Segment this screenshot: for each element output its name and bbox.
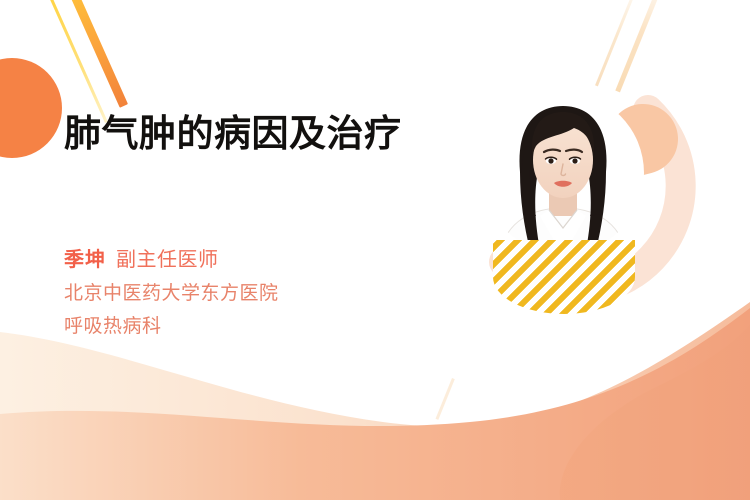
title-block: 肺气肿的病因及治疗 bbox=[64, 112, 414, 156]
doctor-name-row: 季坤副主任医师 bbox=[64, 246, 404, 275]
cream-stripe-b-icon bbox=[615, 0, 668, 92]
doctor-hospital: 北京中医药大学东方医院 bbox=[64, 281, 404, 308]
doctor-name: 季坤 bbox=[64, 249, 106, 271]
doctor-department: 呼吸热病科 bbox=[64, 314, 404, 341]
orange-circle-decoration bbox=[0, 58, 62, 158]
doctor-photo bbox=[482, 92, 644, 254]
doctor-rank: 副主任医师 bbox=[116, 249, 219, 271]
cream-stripe-a-icon bbox=[595, 0, 643, 86]
doctor-intro-card: 肺气肿的病因及治疗 季坤副主任医师 北京中医药大学东方医院 呼吸热病科 bbox=[0, 0, 750, 500]
doctor-info-block: 季坤副主任医师 北京中医药大学东方医院 呼吸热病科 bbox=[64, 246, 404, 341]
yellow-stripe-icon bbox=[44, 0, 108, 123]
page-title: 肺气肿的病因及治疗 bbox=[64, 112, 414, 156]
orange-stripe-icon bbox=[62, 0, 128, 108]
